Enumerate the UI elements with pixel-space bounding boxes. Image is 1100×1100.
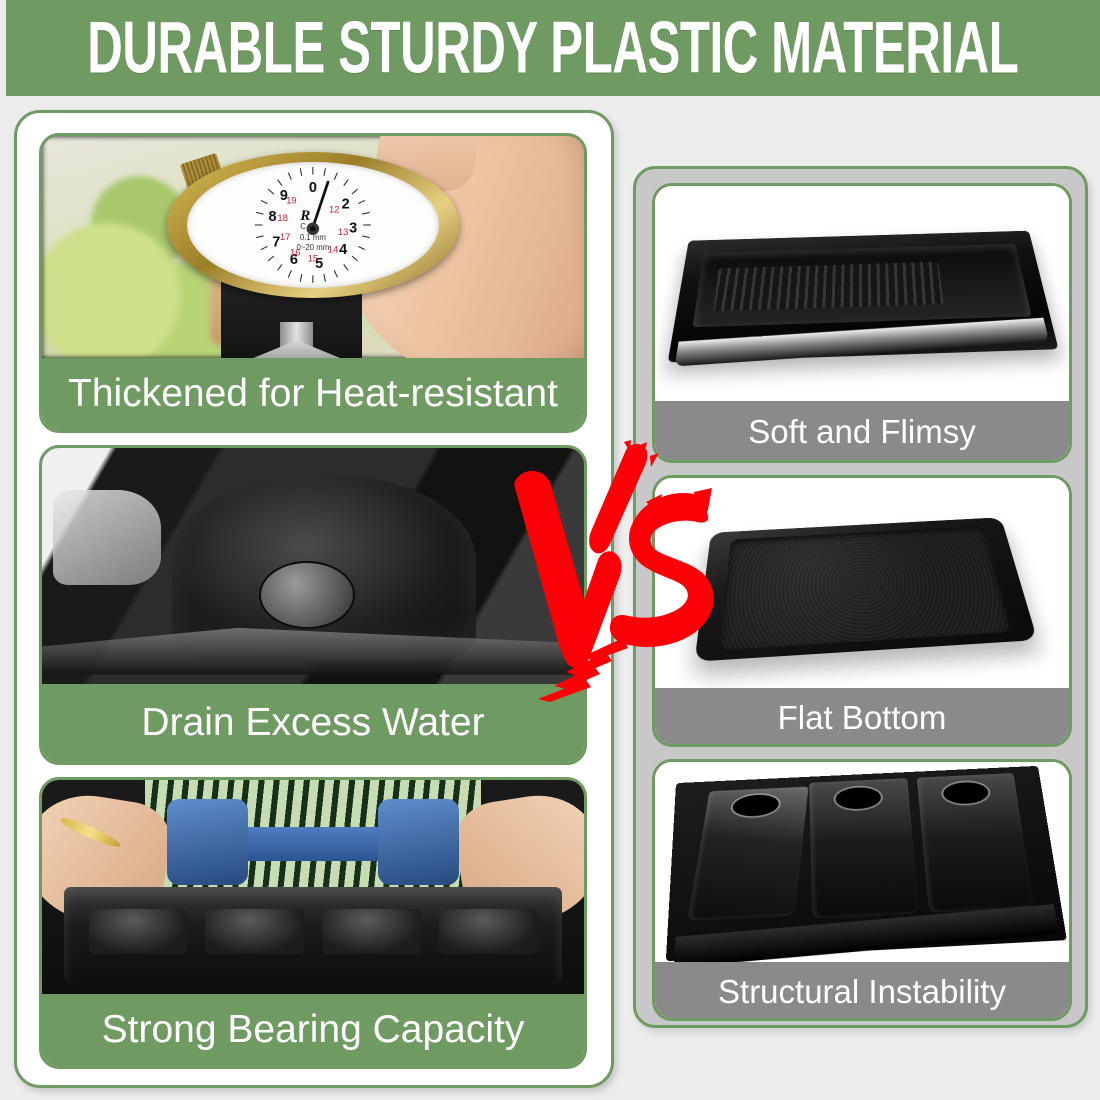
page-title: DURABLE STURDY PLASTIC MATERIAL xyxy=(87,11,1018,84)
drain-hole-icon xyxy=(259,561,355,629)
tray-cell xyxy=(205,909,304,954)
flat-tray xyxy=(694,518,1037,663)
svg-text:C: C xyxy=(300,222,306,231)
good-card-thickened[interactable]: 0 2 3 4 5 6 7 8 9 12 13 xyxy=(39,133,587,433)
good-card-caption: Drain Excess Water xyxy=(42,684,584,762)
thin-flimsy-black-tray-photo xyxy=(655,186,1069,401)
bad-card-unstable[interactable]: Structural Instability xyxy=(652,759,1072,1021)
deformed-cell xyxy=(916,773,1034,912)
good-products-panel: 0 2 3 4 5 6 7 8 9 12 13 xyxy=(14,110,614,1088)
tray-cell xyxy=(322,909,421,954)
tray-cell xyxy=(439,909,538,954)
dial-thickness-gauge-measuring-tray-photo: 0 2 3 4 5 6 7 8 9 12 13 xyxy=(42,136,584,358)
tray-highlight xyxy=(53,490,161,584)
svg-text:2: 2 xyxy=(342,196,350,212)
dumbbell-end-right xyxy=(378,799,459,885)
bad-products-panel: Soft and Flimsy Flat Bottom xyxy=(633,166,1088,1028)
dumbbell-end-left xyxy=(167,799,248,885)
good-card-bearing[interactable]: Strong Bearing Capacity xyxy=(39,777,587,1069)
deformed-cell xyxy=(809,778,918,918)
svg-text:14: 14 xyxy=(328,245,339,256)
svg-text:18: 18 xyxy=(277,213,288,224)
collapsed-deformed-cell-tray-photo xyxy=(655,762,1069,962)
svg-text:19: 19 xyxy=(286,195,297,206)
good-card-caption-text: Strong Bearing Capacity xyxy=(102,1008,525,1052)
svg-text:13: 13 xyxy=(338,227,349,238)
flimsy-tray-ribs xyxy=(714,261,944,311)
header-banner: DURABLE STURDY PLASTIC MATERIAL xyxy=(6,0,1100,96)
deformed-cell-row xyxy=(695,773,1033,925)
gauge-dial-markings: 0 2 3 4 5 6 7 8 9 12 13 xyxy=(187,162,439,288)
svg-text:0~20 mm: 0~20 mm xyxy=(297,243,330,252)
bad-card-caption-text: Soft and Flimsy xyxy=(748,413,975,451)
infographic-root: DURABLE STURDY PLASTIC MATERIAL xyxy=(0,0,1100,1100)
svg-text:15: 15 xyxy=(308,253,319,264)
svg-text:8: 8 xyxy=(269,209,277,225)
svg-text:3: 3 xyxy=(349,220,357,236)
tray-cell-row xyxy=(89,909,538,954)
deformed-tray xyxy=(665,766,1066,961)
svg-text:17: 17 xyxy=(280,232,291,243)
flat-black-cafeteria-tray-photo xyxy=(655,478,1069,688)
collapsed-cell xyxy=(687,787,808,921)
gauge-dial-face: 0 2 3 4 5 6 7 8 9 12 13 xyxy=(187,162,439,288)
bad-card-caption-text: Structural Instability xyxy=(718,973,1006,1011)
tray-cell xyxy=(89,909,188,954)
bad-card-caption-text: Flat Bottom xyxy=(778,699,947,737)
good-card-caption: Strong Bearing Capacity xyxy=(42,994,584,1066)
bad-card-soft[interactable]: Soft and Flimsy xyxy=(652,183,1072,463)
bad-card-caption: Soft and Flimsy xyxy=(655,401,1069,463)
good-card-caption-text: Thickened for Heat-resistant xyxy=(68,372,558,416)
good-card-drain[interactable]: Drain Excess Water xyxy=(39,445,587,765)
seedling-tray xyxy=(64,887,563,985)
svg-text:0: 0 xyxy=(309,180,317,196)
svg-text:12: 12 xyxy=(329,204,340,215)
bad-card-flat[interactable]: Flat Bottom xyxy=(652,475,1072,747)
hands-holding-tray-with-dumbbell-photo xyxy=(42,780,584,994)
flimsy-tray xyxy=(667,230,1058,362)
svg-text:4: 4 xyxy=(339,242,347,258)
good-card-caption: Thickened for Heat-resistant xyxy=(42,358,584,430)
bad-card-caption: Structural Instability xyxy=(655,962,1069,1021)
good-card-caption-text: Drain Excess Water xyxy=(141,701,484,745)
tray-drain-hole-closeup-photo xyxy=(42,448,584,684)
bad-card-caption: Flat Bottom xyxy=(655,688,1069,747)
flat-tray-surface xyxy=(720,526,1011,650)
gauge-dial-ring: 0 2 3 4 5 6 7 8 9 12 13 xyxy=(167,152,460,299)
